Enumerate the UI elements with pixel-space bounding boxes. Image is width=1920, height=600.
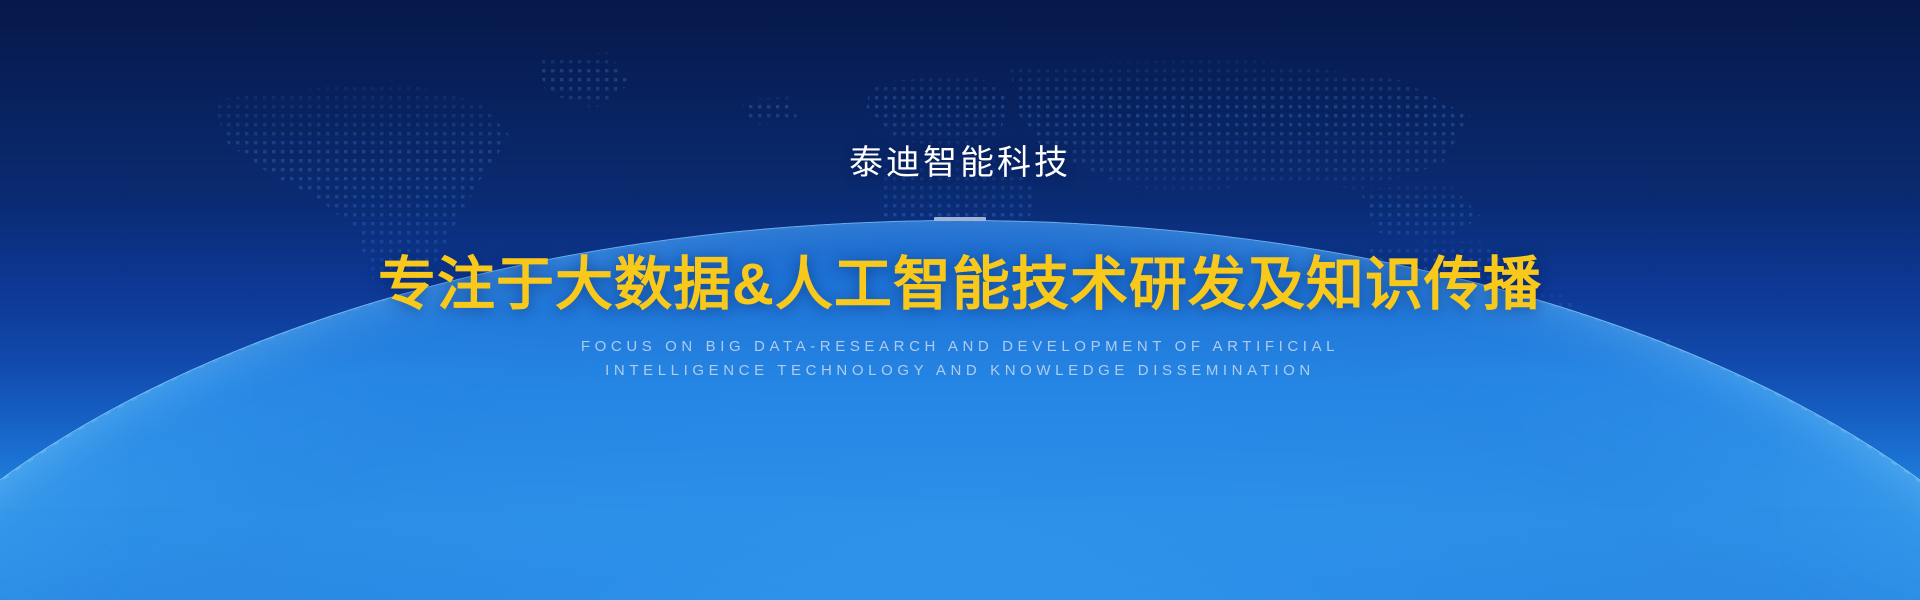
headline: 专注于大数据&人工智能技术研发及知识传播 <box>0 249 1920 321</box>
hero-banner: 泰迪智能科技 专注于大数据&人工智能技术研发及知识传播 FOCUS ON BIG… <box>0 0 1920 600</box>
subtitle: FOCUS ON BIG DATA-RESEARCH AND DEVELOPME… <box>0 335 1920 383</box>
subtitle-line-1: FOCUS ON BIG DATA-RESEARCH AND DEVELOPME… <box>581 338 1339 355</box>
title-divider <box>934 217 986 221</box>
banner-content: 泰迪智能科技 专注于大数据&人工智能技术研发及知识传播 FOCUS ON BIG… <box>0 0 1920 383</box>
subtitle-line-2: INTELLIGENCE TECHNOLOGY AND KNOWLEDGE DI… <box>0 359 1920 383</box>
brand-title: 泰迪智能科技 <box>0 141 1920 185</box>
